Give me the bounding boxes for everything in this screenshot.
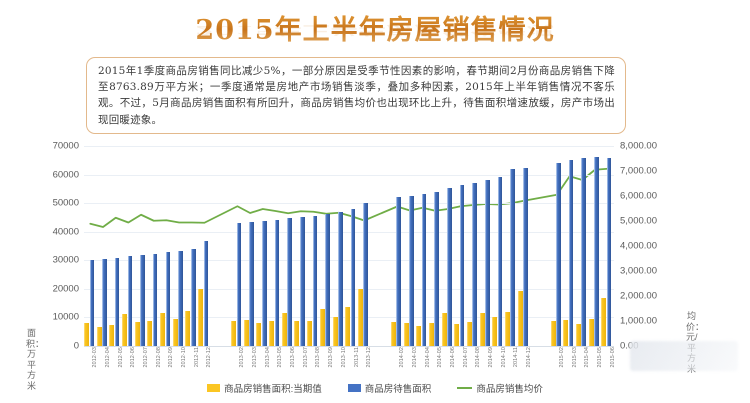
bar-sales-area[interactable] [429, 323, 434, 346]
bar-unsold-area[interactable] [434, 192, 439, 346]
x-axis-tick-label: 2013-11 [354, 347, 360, 367]
bar-group[interactable] [307, 146, 320, 346]
bar-unsold-area[interactable] [510, 169, 515, 346]
x-axis-tick-label: 2012-04 [105, 347, 111, 367]
chart-legend: 商品房销售面积:当期值商品房待售面积商品房销售均价 [0, 381, 750, 395]
bar-sales-area[interactable] [404, 323, 409, 346]
x-axis-tick-label: 2012-06 [130, 347, 136, 367]
x-axis-tick-label: 2013-05 [277, 347, 283, 367]
bar-unsold-area[interactable] [262, 221, 267, 346]
bar-unsold-area[interactable] [594, 157, 599, 346]
x-axis-tick-label: 2015-04 [584, 347, 590, 367]
bar-unsold-area[interactable] [569, 160, 574, 346]
y-axis-tick-label: 70000 [53, 141, 79, 152]
y2-axis-tick-label: 7,000.00 [620, 166, 657, 177]
bar-group[interactable] [505, 146, 518, 346]
x-axis-tick-label: 2012-08 [156, 347, 162, 367]
bar-unsold-area[interactable] [396, 197, 401, 346]
y2-axis-tick-label: 5,000.00 [620, 216, 657, 227]
y-axis-tick-label: 40000 [53, 226, 79, 237]
x-axis-tick-label: 2014-05 [437, 347, 443, 367]
bar-sales-area[interactable] [294, 321, 299, 346]
bar-group[interactable] [244, 146, 257, 346]
bar-sales-area[interactable] [416, 326, 421, 346]
bar-sales-area[interactable] [492, 317, 497, 346]
legend-item[interactable]: 商品房待售面积 [348, 381, 432, 395]
legend-label: 商品房销售均价 [476, 381, 543, 395]
bar-unsold-area[interactable] [338, 212, 343, 346]
bar-group[interactable] [467, 146, 480, 346]
legend-item[interactable]: 商品房销售均价 [457, 381, 543, 395]
bar-group[interactable] [551, 146, 564, 346]
bar-group[interactable] [282, 146, 295, 346]
bar-sales-area[interactable] [467, 322, 472, 346]
bar-group[interactable] [185, 146, 198, 346]
x-axis-tick-label: 2014-04 [425, 347, 431, 367]
right-axis-title: 均价：元/平方米 [686, 311, 697, 374]
bar-unsold-area[interactable] [351, 209, 356, 346]
x-axis-tick-label: 2013-12 [366, 347, 372, 367]
x-axis-tick-label: 2013-04 [265, 347, 271, 367]
bar-sales-area[interactable] [185, 311, 190, 346]
bar-group[interactable] [294, 146, 307, 346]
bar-sales-area[interactable] [147, 321, 152, 346]
bar-group[interactable] [135, 146, 148, 346]
bar-sales-area[interactable] [320, 309, 325, 346]
bar-sales-area[interactable] [122, 314, 127, 346]
legend-label: 商品房待售面积 [365, 381, 432, 395]
bar-group[interactable] [601, 146, 614, 346]
bar-unsold-area[interactable] [472, 183, 477, 346]
y2-axis-tick-label: 8,000.00 [620, 141, 657, 152]
bar-unsold-area[interactable] [90, 260, 95, 346]
x-axis-tick-label: 2014-09 [488, 347, 494, 367]
bar-group[interactable] [563, 146, 576, 346]
bar-group[interactable] [198, 146, 211, 346]
x-axis-tick-label: 2013-03 [252, 347, 258, 367]
bar-group[interactable] [416, 146, 429, 346]
bar-unsold-area[interactable] [409, 196, 414, 346]
y-axis-tick-label: 50000 [53, 198, 79, 209]
bar-sales-area[interactable] [173, 319, 178, 346]
bar-sales-area[interactable] [135, 322, 140, 346]
bar-group[interactable] [480, 146, 493, 346]
bar-sales-area[interactable] [601, 298, 606, 346]
y2-axis-tick-label: 0.00 [620, 341, 639, 352]
bar-unsold-area[interactable] [275, 220, 280, 346]
bar-sales-area[interactable] [518, 291, 523, 346]
bar-sales-area[interactable] [480, 313, 485, 346]
y2-axis-tick-label: 2,000.00 [620, 291, 657, 302]
bar-group[interactable] [345, 146, 358, 346]
legend-swatch-icon [348, 384, 361, 392]
x-axis-tick-label: 2015-06 [610, 347, 616, 367]
bar-group[interactable] [589, 146, 602, 346]
x-axis-tick-label: 2013-06 [290, 347, 296, 367]
bar-sales-area[interactable] [198, 289, 203, 346]
bar-unsold-area[interactable] [115, 258, 120, 346]
bar-group[interactable] [492, 146, 505, 346]
bar-group[interactable] [333, 146, 346, 346]
bar-unsold-area[interactable] [102, 259, 107, 346]
bar-sales-area[interactable] [244, 320, 249, 346]
legend-label: 商品房销售面积:当期值 [224, 381, 322, 395]
bar-unsold-area[interactable] [325, 214, 330, 346]
bar-group[interactable] [391, 146, 404, 346]
bar-sales-area[interactable] [358, 289, 363, 346]
bar-unsold-area[interactable] [556, 163, 561, 346]
bar-sales-area[interactable] [391, 322, 396, 346]
bar-unsold-area[interactable] [237, 223, 242, 346]
x-axis-tick-label: 2014-03 [412, 347, 418, 367]
bar-group[interactable] [173, 146, 186, 346]
bar-group[interactable] [122, 146, 135, 346]
bar-sales-area[interactable] [589, 319, 594, 346]
bar-group[interactable] [84, 146, 97, 346]
bar-unsold-area[interactable] [128, 256, 133, 346]
description-text: 2015年1季度商品房销售同比减少5%，一部分原因是受季节性因素的影响，春节期间… [98, 63, 615, 128]
x-axis-tick-label: 2013-02 [239, 347, 245, 367]
bar-sales-area[interactable] [307, 321, 312, 346]
x-axis-tick-label: 2014-12 [526, 347, 532, 367]
x-axis-tick-label: 2012-05 [118, 347, 124, 367]
bar-group[interactable] [454, 146, 467, 346]
bar-unsold-area[interactable] [153, 254, 158, 346]
bar-group[interactable] [160, 146, 173, 346]
chart-area: 0100002000030000400005000060000700000.00… [0, 133, 750, 383]
bar-sales-area[interactable] [256, 323, 261, 346]
bar-unsold-area[interactable] [191, 249, 196, 346]
bar-unsold-area[interactable] [460, 185, 465, 346]
bar-group[interactable] [269, 146, 282, 346]
y-axis-tick-label: 20000 [53, 283, 79, 294]
x-axis-tick-label: 2014-11 [513, 347, 519, 367]
bar-group[interactable] [147, 146, 160, 346]
slide-canvas: 2015年上半年房屋销售情况 2015年上半年房屋销售情况 2015年1季度商品… [0, 0, 750, 403]
x-axis-tick-label: 2012-11 [194, 347, 200, 367]
bar-group[interactable] [256, 146, 269, 346]
x-axis-tick-label: 2012-12 [206, 347, 212, 367]
bar-unsold-area[interactable] [313, 216, 318, 346]
x-axis-tick-label: 2012-03 [92, 347, 98, 367]
bar-unsold-area[interactable] [581, 158, 586, 346]
bar-sales-area[interactable] [269, 321, 274, 346]
bar-sales-area[interactable] [576, 324, 581, 346]
bar-sales-area[interactable] [109, 325, 114, 346]
bar-sales-area[interactable] [505, 312, 510, 346]
bar-group[interactable] [358, 146, 371, 346]
bar-unsold-area[interactable] [523, 168, 528, 346]
bar-group[interactable] [97, 146, 110, 346]
bar-sales-area[interactable] [97, 327, 102, 346]
y2-axis-tick-label: 4,000.00 [620, 241, 657, 252]
bar-sales-area[interactable] [442, 313, 447, 346]
bar-group[interactable] [518, 146, 531, 346]
legend-swatch-icon [207, 384, 220, 392]
plot-region: 0100002000030000400005000060000700000.00… [84, 146, 614, 346]
x-axis-tick-label: 2013-08 [315, 347, 321, 367]
x-axis-tick-label: 2015-02 [559, 347, 565, 367]
page-title: 2015年上半年房屋销售情况 [0, 8, 750, 47]
y2-axis-tick-label: 6,000.00 [620, 191, 657, 202]
x-axis-tick-label: 2012-07 [143, 347, 149, 367]
description-panel: 2015年1季度商品房销售同比减少5%，一部分原因是受季节性因素的影响，春节期间… [86, 57, 626, 134]
bar-unsold-area[interactable] [166, 252, 171, 346]
y2-axis-tick-label: 3,000.00 [620, 266, 657, 277]
bar-group[interactable] [320, 146, 333, 346]
x-axis-tick-label: 2014-02 [399, 347, 405, 367]
bar-unsold-area[interactable] [447, 188, 452, 346]
bar-group[interactable] [429, 146, 442, 346]
legend-item[interactable]: 商品房销售面积:当期值 [207, 381, 322, 395]
bar-group[interactable] [404, 146, 417, 346]
x-axis-tick-label: 2013-07 [303, 347, 309, 367]
bar-sales-area[interactable] [282, 313, 287, 346]
x-axis-tick-label: 2013-10 [341, 347, 347, 367]
x-axis-tick-label: 2014-07 [463, 347, 469, 367]
bar-unsold-area[interactable] [287, 218, 292, 346]
bar-unsold-area[interactable] [607, 158, 612, 346]
y-axis-tick-label: 30000 [53, 255, 79, 266]
y-axis-tick-label: 0 [74, 341, 79, 352]
y-axis-tick-label: 60000 [53, 169, 79, 180]
y2-axis-tick-label: 1,000.00 [620, 316, 657, 327]
bar-sales-area[interactable] [84, 323, 89, 346]
bar-group[interactable] [231, 146, 244, 346]
bar-unsold-area[interactable] [140, 255, 145, 346]
bar-unsold-area[interactable] [178, 251, 183, 346]
x-axis-tick-label: 2012-10 [181, 347, 187, 367]
bar-sales-area[interactable] [231, 321, 236, 346]
bar-group[interactable] [109, 146, 122, 346]
bar-sales-area[interactable] [345, 307, 350, 346]
bar-unsold-area[interactable] [498, 177, 503, 346]
bar-unsold-area[interactable] [300, 217, 305, 346]
y-axis-tick-label: 10000 [53, 312, 79, 323]
bar-group[interactable] [442, 146, 455, 346]
x-axis-tick-label: 2014-10 [501, 347, 507, 367]
bar-unsold-area[interactable] [363, 203, 368, 346]
x-axis-tick-label: 2014-06 [450, 347, 456, 367]
bar-sales-area[interactable] [160, 313, 165, 346]
bar-sales-area[interactable] [333, 317, 338, 346]
bar-unsold-area[interactable] [485, 180, 490, 346]
x-axis-tick-label: 2012-09 [168, 347, 174, 367]
x-axis-tick-label: 2015-03 [572, 347, 578, 367]
bar-sales-area[interactable] [551, 321, 556, 346]
bar-unsold-area[interactable] [422, 194, 427, 346]
x-axis-tick-label: 2015-05 [597, 347, 603, 367]
bar-unsold-area[interactable] [249, 222, 254, 346]
legend-swatch-icon [457, 387, 472, 390]
bar-series-container [84, 146, 614, 346]
bar-sales-area[interactable] [563, 320, 568, 346]
bar-sales-area[interactable] [454, 324, 459, 346]
bar-unsold-area[interactable] [204, 241, 209, 346]
bar-group[interactable] [576, 146, 589, 346]
x-axis-tick-label: 2014-08 [475, 347, 481, 367]
x-axis-tick-label: 2013-09 [328, 347, 334, 367]
